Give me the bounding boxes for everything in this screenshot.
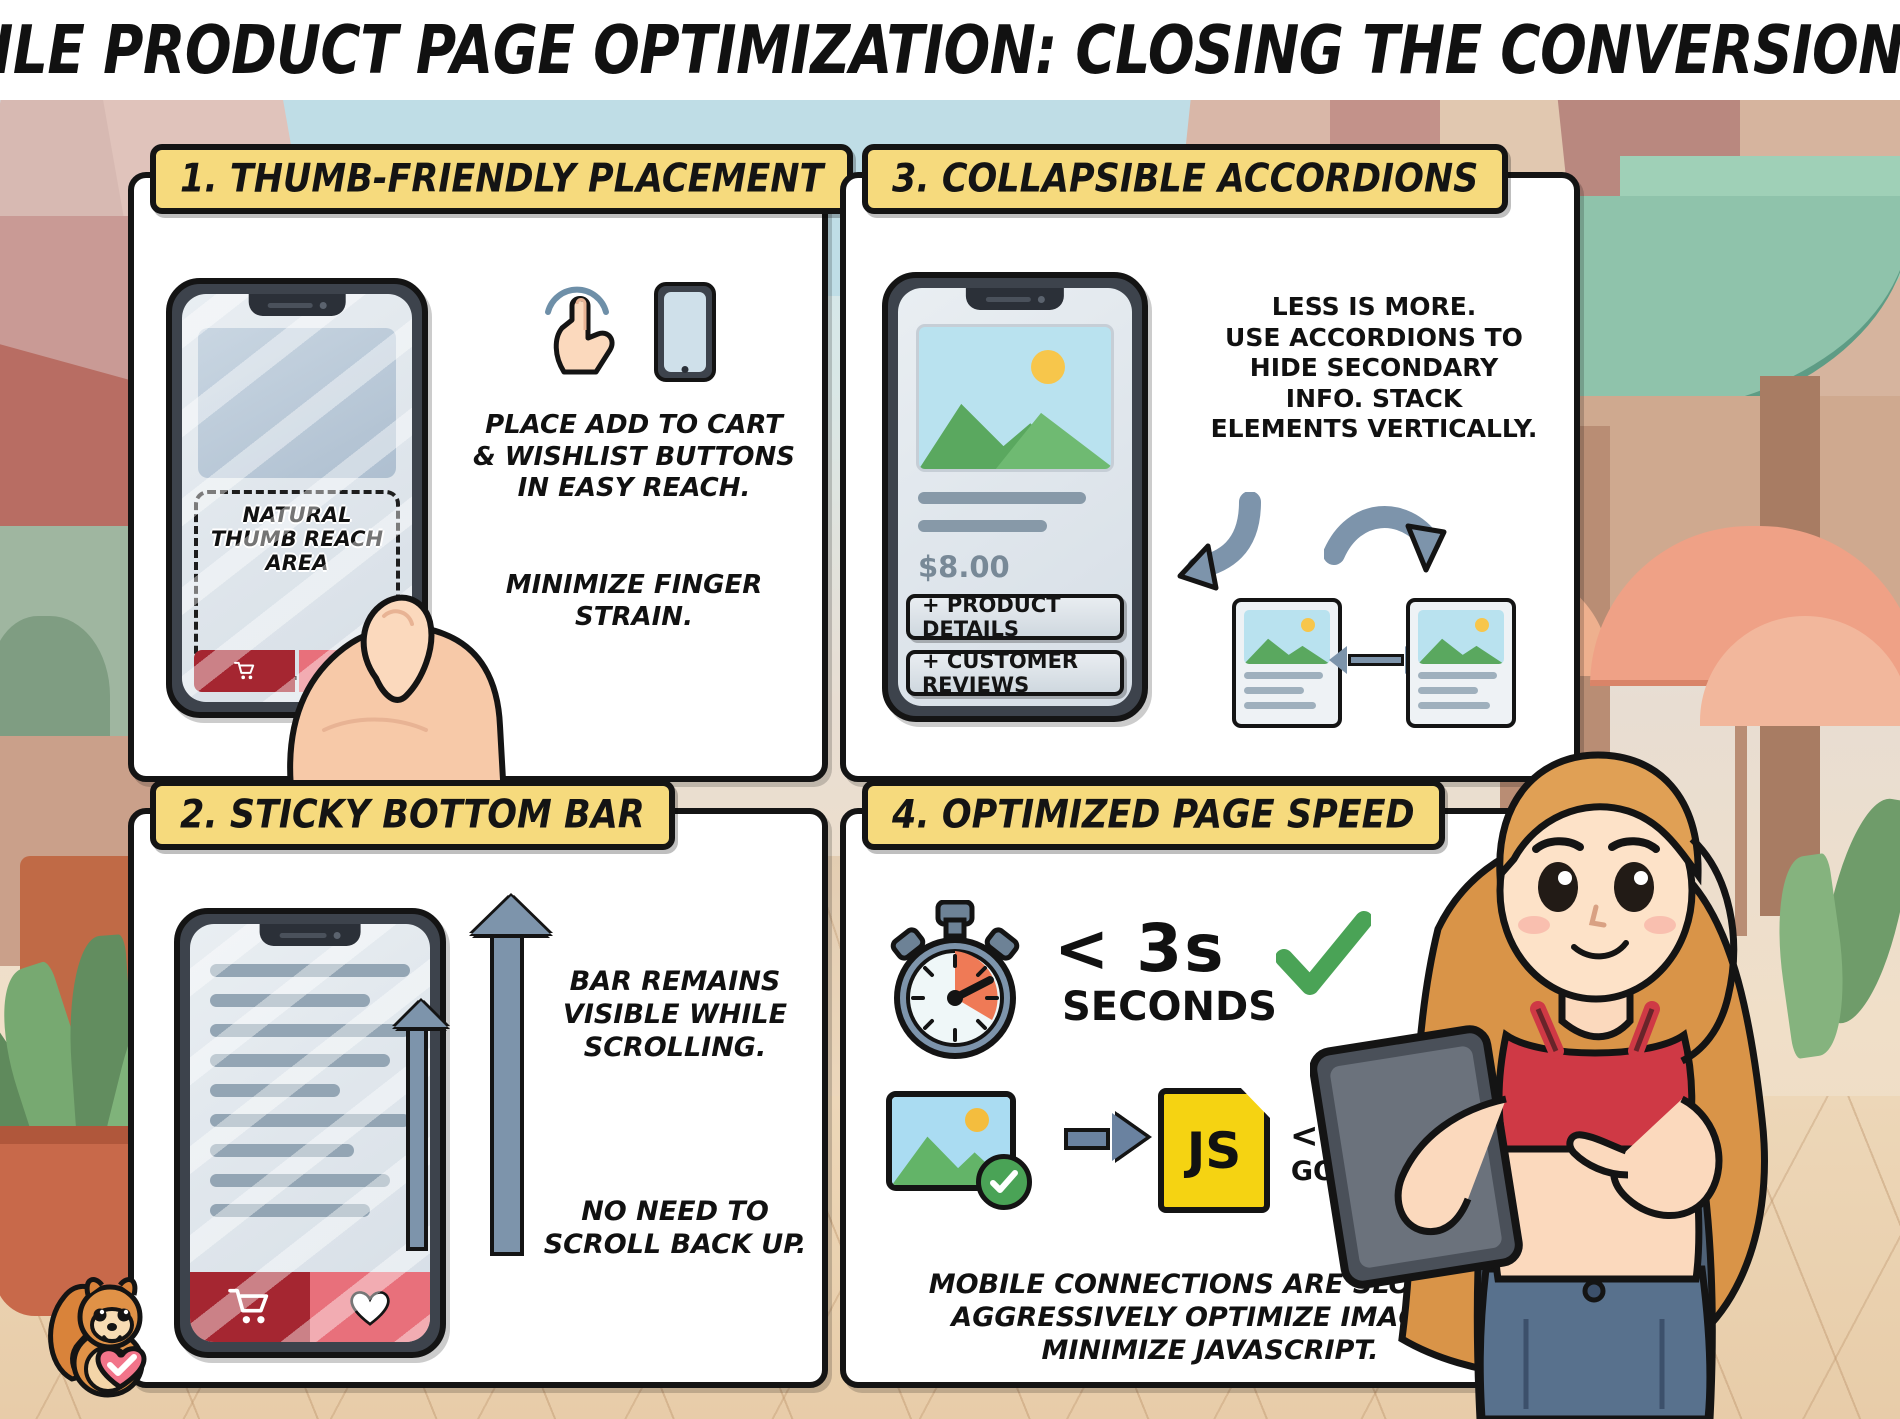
product-title-skeleton xyxy=(918,492,1086,504)
small-phone-screen xyxy=(664,292,706,372)
panel-2-text-a-line-2: VISIBLE WHILE xyxy=(540,999,810,1032)
avatar-woman-with-tablet xyxy=(1310,679,1870,1419)
wishlist-button[interactable] xyxy=(310,1272,430,1342)
panel-2-text-b: NO NEED TO SCROLL BACK UP. xyxy=(530,1196,820,1262)
speaker-icon xyxy=(280,933,326,938)
product-price: $8.00 xyxy=(918,550,1010,584)
page-title: MOBILE PRODUCT PAGE OPTIMIZATION: CLOSIN… xyxy=(0,11,1900,89)
sun-icon xyxy=(965,1108,989,1132)
panel-1-text-b: MINIMIZE FINGER STRAIN. xyxy=(484,570,784,633)
speed-headline-sub: SECONDS xyxy=(1062,984,1277,1030)
panel-1-header: 1. THUMB-FRIENDLY PLACEMENT xyxy=(150,144,853,214)
curved-arrow-right-icon xyxy=(1324,488,1454,598)
panel-1-text-b-line-1: MINIMIZE FINGER xyxy=(484,570,784,602)
product-subtitle-skeleton xyxy=(918,520,1047,532)
mountain-shape xyxy=(1244,632,1330,664)
speed-headline: < 3s xyxy=(1054,910,1226,987)
cart-icon xyxy=(228,1287,272,1327)
card-mock-image xyxy=(1418,610,1504,664)
speaker-icon xyxy=(985,297,1030,302)
skeleton-row xyxy=(210,1174,390,1187)
panel-1-text-b-line-2: STRAIN. xyxy=(484,602,784,634)
card-mock-line-3 xyxy=(1244,702,1316,709)
cart-icon xyxy=(234,661,256,681)
card-mock-line-1 xyxy=(1244,672,1323,679)
skeleton-row xyxy=(210,1084,340,1097)
js-file-icon: JS xyxy=(1158,1088,1270,1213)
skeleton-row xyxy=(210,1144,354,1157)
curved-arrow-down-icon xyxy=(1164,492,1274,602)
panel-3-text-line-1: LESS IS MORE. xyxy=(1194,292,1554,323)
scroll-arrow-large-icon xyxy=(490,926,524,1256)
panel-3-text: LESS IS MORE. USE ACCORDIONS TO HIDE SEC… xyxy=(1194,292,1554,445)
accordion-list: + PRODUCT DETAILS + CUSTOMER REVIEWS xyxy=(906,594,1124,706)
stopwatch-icon xyxy=(880,900,1030,1060)
panel-1-body: NATURAL THUMB REACH AREA xyxy=(134,230,822,776)
panel-1-header-label: 1. THUMB-FRIENDLY PLACEMENT xyxy=(180,157,823,202)
sticky-bottom-bar xyxy=(190,1272,430,1342)
sun-icon xyxy=(1031,350,1065,384)
panel-2-text-b-line-2: SCROLL BACK UP. xyxy=(530,1229,820,1262)
phone-notch xyxy=(249,294,346,316)
check-glyph-icon xyxy=(989,1169,1019,1195)
panel-2-header-label: 2. STICKY BOTTOM BAR xyxy=(180,793,645,838)
speaker-icon xyxy=(268,303,312,308)
panel-1-text-a-line-1: PLACE ADD TO CART xyxy=(464,410,804,442)
accordion-product-details-label: + PRODUCT DETAILS xyxy=(922,593,1120,641)
sun-icon xyxy=(1475,618,1489,632)
card-mock-image xyxy=(1244,610,1330,664)
panel-thumb-friendly-placement: 1. THUMB-FRIENDLY PLACEMENT NATURAL THUM… xyxy=(128,172,828,782)
tap-hand-icon xyxy=(532,282,622,377)
panel-1-text-a-line-3: IN EASY REACH. xyxy=(464,473,804,505)
camera-icon xyxy=(333,932,340,939)
camera-icon xyxy=(1038,296,1045,303)
skeleton-row xyxy=(210,994,370,1007)
hand-holding-phone-illustration xyxy=(284,530,514,800)
panel-2-text-a-line-3: SCROLLING. xyxy=(540,1032,810,1065)
phone-mockup-accordions: $8.00 + PRODUCT DETAILS + CUSTOMER REVIE… xyxy=(882,272,1148,722)
skeleton-row xyxy=(210,1024,410,1037)
panel-2-text-b-line-1: NO NEED TO xyxy=(530,1196,820,1229)
small-phone-icon xyxy=(654,282,716,382)
panel-1-text-a-line-2: & WISHLIST BUTTONS xyxy=(464,442,804,474)
panel-3-text-line-5: ELEMENTS VERTICALLY. xyxy=(1194,414,1554,445)
panel-1-text-a: PLACE ADD TO CART & WISHLIST BUTTONS IN … xyxy=(464,410,804,505)
accordion-customer-reviews[interactable]: + CUSTOMER REVIEWS xyxy=(906,650,1124,696)
panel-3-text-line-2: USE ACCORDIONS TO xyxy=(1194,323,1554,354)
squirrel-mascot-icon xyxy=(42,1261,167,1401)
phone-screen: $8.00 + PRODUCT DETAILS + CUSTOMER REVIE… xyxy=(898,288,1132,706)
panel-2-header: 2. STICKY BOTTOM BAR xyxy=(150,780,675,850)
panel-3-header-label: 3. COLLAPSIBLE ACCORDIONS xyxy=(892,157,1478,202)
thumb-reach-line-1: NATURAL xyxy=(211,504,383,528)
card-mock-line-1 xyxy=(1418,672,1497,679)
heart-icon xyxy=(347,1286,393,1328)
panel-2-text-a-line-1: BAR REMAINS xyxy=(540,966,810,999)
panel-3-text-line-3: HIDE SECONDARY xyxy=(1194,353,1554,384)
accordion-product-details[interactable]: + PRODUCT DETAILS xyxy=(906,594,1124,640)
image-optimized-check-icon xyxy=(976,1154,1032,1210)
product-image xyxy=(916,324,1114,472)
mountain-shape xyxy=(1418,632,1504,664)
skeleton-row xyxy=(210,1054,390,1067)
skeleton-row xyxy=(210,1204,370,1217)
mountain-shape-2 xyxy=(996,404,1114,469)
js-file-label: JS xyxy=(1187,1122,1242,1180)
product-hero-image xyxy=(198,328,396,478)
panel-2-text-a: BAR REMAINS VISIBLE WHILE SCROLLING. xyxy=(540,966,810,1065)
add-to-cart-button[interactable] xyxy=(194,650,295,692)
panel-sticky-bottom-bar: 2. STICKY BOTTOM BAR xyxy=(128,808,828,1388)
skeleton-row xyxy=(210,964,410,977)
phone-notch xyxy=(966,288,1064,310)
add-to-cart-button[interactable] xyxy=(190,1272,310,1342)
phone-screen xyxy=(190,924,430,1342)
skeleton-row xyxy=(210,1114,410,1127)
content-skeleton-list xyxy=(210,964,410,1234)
camera-icon xyxy=(319,302,326,309)
panel-3-header: 3. COLLAPSIBLE ACCORDIONS xyxy=(862,144,1508,214)
card-mock-line-2 xyxy=(1244,687,1304,694)
accordion-customer-reviews-label: + CUSTOMER REVIEWS xyxy=(922,649,1120,697)
arrow-right-icon xyxy=(1064,1128,1110,1150)
sun-icon xyxy=(1301,618,1315,632)
panel-2-body: BAR REMAINS VISIBLE WHILE SCROLLING. NO … xyxy=(134,866,822,1382)
scroll-arrow-small-icon xyxy=(406,1021,428,1251)
small-phone-home-button xyxy=(682,366,689,373)
phone-notch xyxy=(260,924,361,946)
double-arrow-icon xyxy=(1348,654,1404,666)
title-bar: MOBILE PRODUCT PAGE OPTIMIZATION: CLOSIN… xyxy=(0,0,1900,100)
panel-3-text-line-4: INFO. STACK xyxy=(1194,384,1554,415)
